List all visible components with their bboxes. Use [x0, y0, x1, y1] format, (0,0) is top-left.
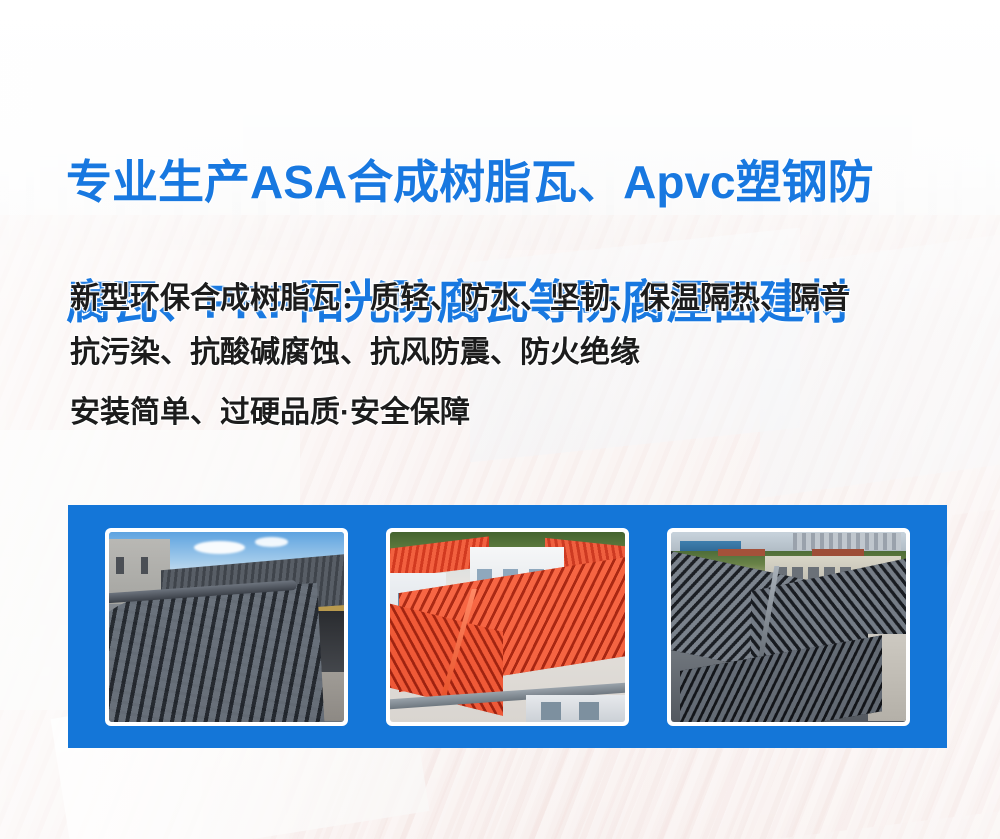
headline-line-1: 专业生产ASA合成树脂瓦、Apvc塑钢防: [66, 156, 874, 208]
black-resin-tile-roof-image: [671, 532, 906, 722]
gallery-photo-2[interactable]: [386, 528, 629, 726]
photo2-lower-building: [526, 695, 625, 722]
dark-grey-resin-tile-roof-image: [109, 532, 344, 722]
feature-line-3: 安装简单、过硬品质·安全保障: [70, 386, 960, 440]
feature-line-2: 抗污染、抗酸碱腐蚀、抗风防震、防火绝缘: [70, 326, 960, 380]
red-resin-tile-roof-image: [390, 532, 625, 722]
photo1-tile-field: [109, 582, 324, 721]
photo3-far-red-roof-left: [718, 549, 765, 557]
feature-line-1: 新型环保合成树脂瓦：质轻、防水、坚韧、保温隔热、隔音: [70, 272, 960, 326]
gallery-photo-3[interactable]: [667, 528, 910, 726]
photo1-cloud-right: [255, 537, 288, 547]
photo3-far-red-roof-right: [812, 549, 864, 557]
photo-gallery-panel: [68, 505, 947, 748]
product-banner: 专业生产ASA合成树脂瓦、Apvc塑钢防 腐瓦、PRP阳光防腐瓦等防腐屋面建材 …: [0, 0, 1000, 839]
gallery-photo-1[interactable]: [105, 528, 348, 726]
feature-list: 新型环保合成树脂瓦：质轻、防水、坚韧、保温隔热、隔音 抗污染、抗酸碱腐蚀、抗风防…: [70, 272, 960, 440]
